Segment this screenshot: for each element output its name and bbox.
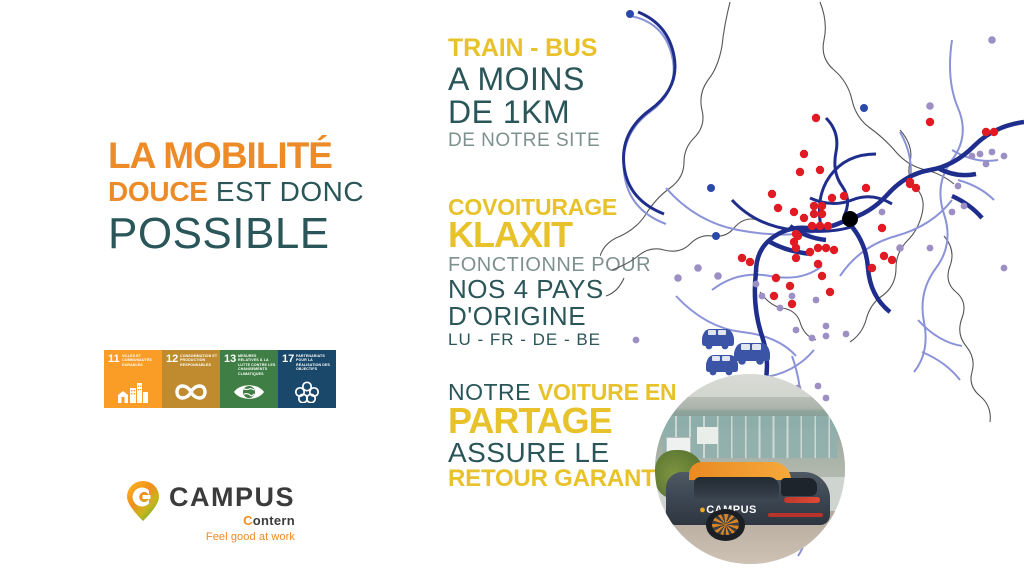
headline-line-2-rest: EST DONC — [216, 176, 364, 207]
shared-car-icon-3 — [706, 355, 738, 375]
map-routes-primary — [624, 12, 892, 232]
headline-line-3: POSSIBLE — [108, 212, 408, 255]
shared-car-icon-1 — [702, 329, 734, 349]
logo-slogan: Feel good at work — [169, 531, 295, 543]
sdg-goal-12-number: 12 — [166, 354, 178, 365]
sdg-goal-17-label: PARTENARIATS POUR LA RÉALISATION DES OBJ… — [296, 354, 334, 372]
sdg-goal-12: 12 CONSOMMATION ET PRODUCTION RESPONSABL… — [162, 350, 220, 408]
shared-car-icon-2 — [734, 343, 770, 365]
sdg-goal-11-label: VILLES ET COMMUNAUTÉS DURABLES — [122, 354, 160, 367]
photo-sign-2 — [697, 427, 718, 444]
sdg-goal-13-label: MESURES RELATIVES À LA LUTTE CONTRE LES … — [238, 354, 276, 376]
photo-car: ●CAMPUS — [666, 458, 829, 538]
contern-initial: C — [243, 513, 253, 528]
city-buildings-icon — [104, 379, 162, 405]
eye-globe-icon — [220, 379, 278, 405]
campus-contern-logo: CAMPUS Contern Feel good at work — [125, 478, 295, 543]
sdg-goals-row: 11 VILLES ET COMMUNAUTÉS DURABLES — [104, 350, 336, 408]
photo-car-window-front — [694, 477, 779, 499]
sdg-goal-13-number: 13 — [224, 354, 236, 365]
shared-car-photo: ●CAMPUS — [655, 374, 845, 564]
headline-line-2-emphasis: DOUCE — [108, 176, 208, 207]
photo-car-wheel — [706, 509, 745, 541]
sdg-goal-11-number: 11 — [108, 354, 120, 365]
sdg-goal-17: 17 PARTENARIATS POUR LA RÉALISATION DES … — [278, 350, 336, 408]
map-pin-c-icon — [125, 480, 161, 522]
headline-line-2: DOUCE EST DONC — [108, 178, 408, 205]
left-panel: LA MOBILITÉ DOUCE EST DONC POSSIBLE 11 V… — [0, 0, 430, 568]
poster-canvas: LA MOBILITÉ DOUCE EST DONC POSSIBLE 11 V… — [0, 0, 1024, 568]
sdg-goal-17-number: 17 — [282, 354, 294, 365]
infinity-icon — [162, 379, 220, 405]
campus-site-marker — [842, 211, 858, 227]
headline-line-1: LA MOBILITÉ — [108, 138, 408, 174]
campus-logo-text: CAMPUS Contern Feel good at work — [169, 478, 295, 543]
contern-wordmark: Contern — [169, 513, 295, 528]
photo-car-bumper-stripe — [768, 513, 824, 517]
page-title: LA MOBILITÉ DOUCE EST DONC POSSIBLE — [108, 138, 408, 255]
campus-wordmark: CAMPUS — [169, 482, 295, 512]
partnership-circles-icon — [278, 379, 336, 405]
sdg-goal-13: 13 MESURES RELATIVES À LA LUTTE CONTRE L… — [220, 350, 278, 408]
contern-rest: ontern — [253, 513, 295, 528]
sdg-goal-12-label: CONSOMMATION ET PRODUCTION RESPONSABLES — [180, 354, 218, 367]
photo-car-window-rear — [781, 478, 817, 496]
sdg-goal-11: 11 VILLES ET COMMUNAUTÉS DURABLES — [104, 350, 162, 408]
photo-car-taillight — [784, 497, 820, 503]
